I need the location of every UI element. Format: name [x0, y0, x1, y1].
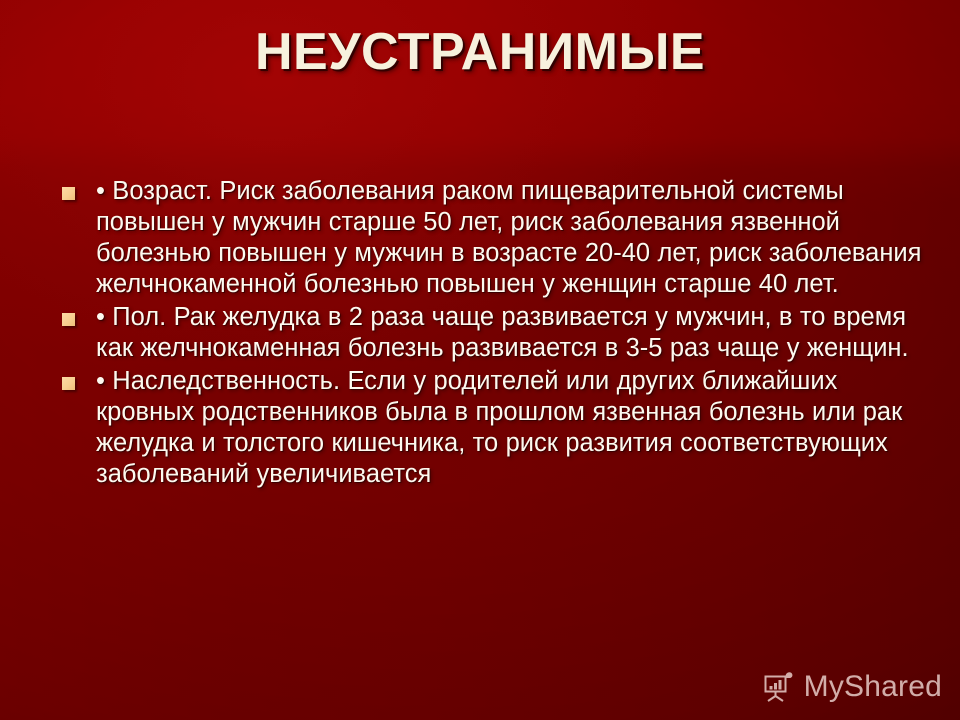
- bullet-text: • Наследственность. Если у родителей или…: [96, 366, 928, 490]
- square-bullet-icon: [62, 313, 75, 326]
- square-bullet-icon: [62, 187, 75, 200]
- list-item: • Наследственность. Если у родителей или…: [56, 366, 928, 490]
- square-bullet-icon: [62, 377, 75, 390]
- bullet-text: • Пол. Рак желудка в 2 раза чаще развива…: [96, 302, 928, 364]
- list-item: • Пол. Рак желудка в 2 раза чаще развива…: [56, 302, 928, 364]
- watermark-label: MyShared: [804, 670, 942, 704]
- myshared-watermark: MyShared: [760, 670, 942, 704]
- bullet-text: • Возраст. Риск заболевания раком пищева…: [96, 176, 928, 300]
- flipchart-bar-chart-icon: [760, 670, 794, 704]
- presentation-slide: НЕУСТРАНИМЫЕ • Возраст. Риск заболевания…: [0, 0, 960, 720]
- slide-title: НЕУСТРАНИМЫЕ: [0, 22, 960, 82]
- list-item: • Возраст. Риск заболевания раком пищева…: [56, 176, 928, 300]
- bullet-list: • Возраст. Риск заболевания раком пищева…: [56, 176, 928, 492]
- slide-content: НЕУСТРАНИМЫЕ • Возраст. Риск заболевания…: [0, 0, 960, 720]
